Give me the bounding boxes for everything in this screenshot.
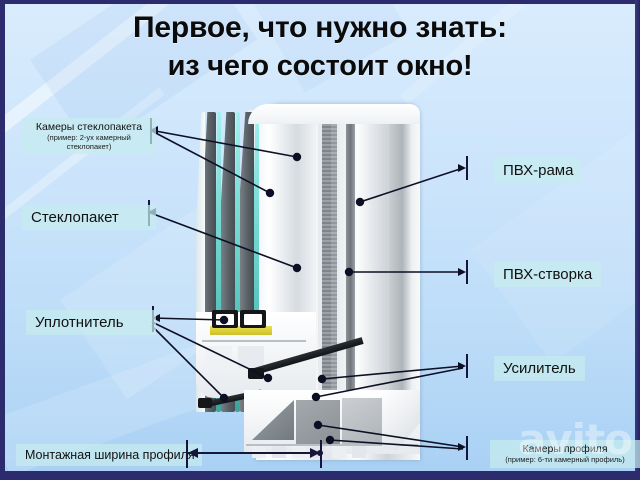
avito-watermark: avito — [518, 415, 632, 464]
leader-tick-chambers-profile — [466, 436, 468, 460]
seal-bar-lower-end — [198, 398, 212, 408]
leader-tick-pvc-sash — [466, 260, 468, 284]
label-reinforcement: Усилитель — [494, 356, 585, 381]
title-line-1: Первое, что нужно знать: — [0, 9, 640, 47]
sash-chamber-1 — [206, 346, 232, 368]
pvc-frame-top-cap — [248, 104, 420, 124]
seal-bar-upper-end — [248, 368, 264, 379]
frame-chamber-shade-3 — [342, 398, 382, 444]
label-pvc-frame: ПВХ-рама — [494, 158, 582, 183]
window-cross-section-diagram — [196, 104, 420, 460]
gasket-hole-2 — [244, 314, 262, 325]
page-title: Первое, что нужно знать: из чего состоит… — [0, 9, 640, 85]
label-chambers-glass-note-2: стеклопакет) — [29, 143, 149, 152]
profile-bottom-assembly — [196, 304, 420, 460]
frame-chamber-shade-2 — [296, 400, 340, 444]
label-mounting-width: Монтажная ширина профиля — [16, 444, 202, 466]
leader-tick-reinforcement — [466, 354, 468, 378]
slide-border-top — [0, 0, 640, 4]
leader-tick-pvc-frame — [466, 156, 468, 180]
frame-foot-6 — [352, 446, 366, 458]
gasket-hole-1 — [216, 314, 234, 325]
slide-border-bottom — [0, 471, 640, 480]
label-seal: Уплотнитель — [26, 310, 156, 335]
label-chambers-glass: Камеры стеклопакета (пример: 2-ух камерн… — [22, 118, 156, 154]
frame-foot-5 — [332, 446, 346, 458]
sash-bottom-divider — [202, 340, 306, 342]
title-line-2: из чего состоит окно! — [0, 47, 640, 85]
label-glass-unit: Стеклопакет — [22, 205, 156, 230]
label-chambers-glass-title: Камеры стеклопакета — [36, 121, 142, 133]
slide-canvas: Первое, что нужно знать: из чего состоит… — [0, 0, 640, 480]
sash-chamber-2 — [238, 346, 264, 368]
label-pvc-sash: ПВХ-створка — [494, 262, 601, 287]
